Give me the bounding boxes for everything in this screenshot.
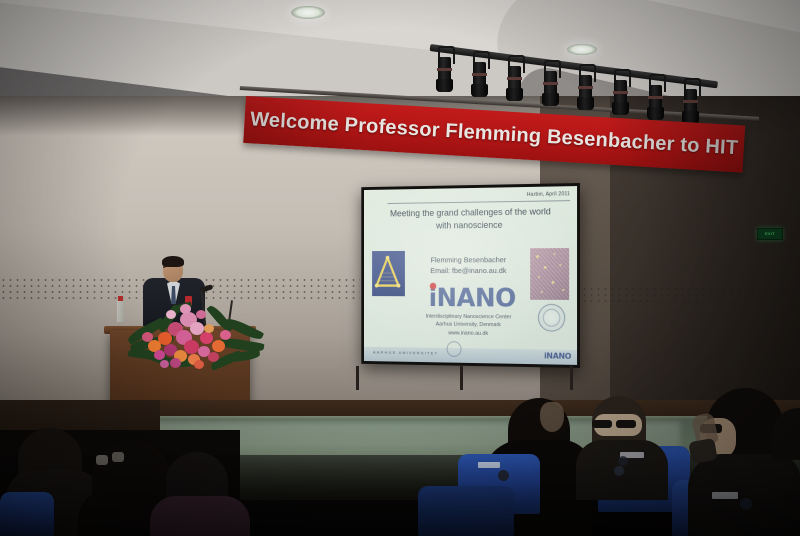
flower-bloom [212, 340, 225, 352]
stage-spotlight-icon [648, 74, 663, 120]
slide-speaker-email: Email: fbe@inano.au.dk [415, 265, 522, 276]
foreground-shadow [0, 456, 800, 536]
slide-speaker-info: Flemming Besenbacher Email: fbe@inano.au… [415, 254, 522, 276]
inano-logo: iNANO [409, 282, 535, 316]
stage-spotlight-icon [613, 69, 628, 115]
slide-footer-logo: iNANO [544, 351, 571, 360]
flower-bloom [180, 304, 191, 314]
slide-footer-seal-icon [447, 341, 462, 357]
audience-face [540, 402, 564, 432]
flower-bloom [204, 324, 214, 333]
flower-bloom [208, 352, 219, 362]
glasses-icon [616, 420, 636, 428]
triangle-nanostructure-icon [375, 256, 400, 290]
stage-spotlight-icon [578, 64, 593, 110]
glasses-icon [592, 420, 612, 428]
acoustic-perforation-band [560, 286, 800, 306]
stage-spotlight-icon [437, 46, 452, 92]
flower-bloom [170, 358, 181, 368]
flower-arrangement [124, 296, 264, 372]
presenter-hair [162, 256, 184, 267]
slide-speaker-name: Flemming Besenbacher [415, 254, 522, 265]
flower-bloom [184, 340, 199, 354]
ceiling-downlight-icon [567, 44, 597, 55]
water-bottle [117, 300, 124, 322]
flower-bloom [200, 332, 213, 344]
flower-bloom [196, 310, 206, 319]
flower-bloom [160, 360, 169, 368]
ceiling-downlight-icon [291, 6, 325, 19]
slide-title-line-1: Meeting the grand challenges of the worl… [375, 205, 567, 221]
slide-date: Harbin, April 2011 [527, 191, 570, 198]
exit-sign-label: EXIT [765, 232, 775, 236]
slide-title: Meeting the grand challenges of the worl… [375, 205, 567, 233]
slide-affiliation-line-3: www.inano.au.dk [377, 328, 564, 339]
flower-bloom [220, 330, 231, 340]
slide-footer: AARHUS UNIVERSITET iNANO [364, 347, 577, 365]
stage-spotlight-icon [543, 60, 558, 106]
slide-image-stm-surface [530, 248, 569, 300]
flower-bloom [166, 310, 176, 319]
stage-spotlight-icon [507, 55, 522, 101]
presentation-slide: Harbin, April 2011 Meeting the grand cha… [364, 186, 577, 365]
water-bottle-cap [118, 296, 123, 301]
stage-spotlight-icon [683, 78, 698, 124]
flower-bloom [154, 350, 165, 360]
slide-title-line-2: with nanoscience [375, 218, 567, 233]
slide-affiliation: Interdisciplinary Nanoscience Center Aar… [377, 312, 564, 339]
stage-spotlight-icon [472, 51, 487, 97]
flower-bloom [142, 332, 153, 342]
exit-sign: EXIT [757, 228, 783, 240]
conference-hall-photo: EXIT Welcome Professor Flemming Besenbac… [0, 0, 800, 536]
inano-logo-dot-icon [430, 283, 436, 290]
inano-logo-nano: NANO [437, 284, 516, 314]
projection-screen: Harbin, April 2011 Meeting the grand cha… [361, 183, 580, 368]
flower-bloom [194, 360, 204, 369]
inano-logo-text: iNANO [429, 286, 516, 312]
slide-divider [388, 200, 571, 204]
slide-footer-university: AARHUS UNIVERSITET [373, 350, 438, 356]
screen-support-legs [352, 366, 576, 390]
slide-image-stm-triangle [372, 251, 405, 296]
